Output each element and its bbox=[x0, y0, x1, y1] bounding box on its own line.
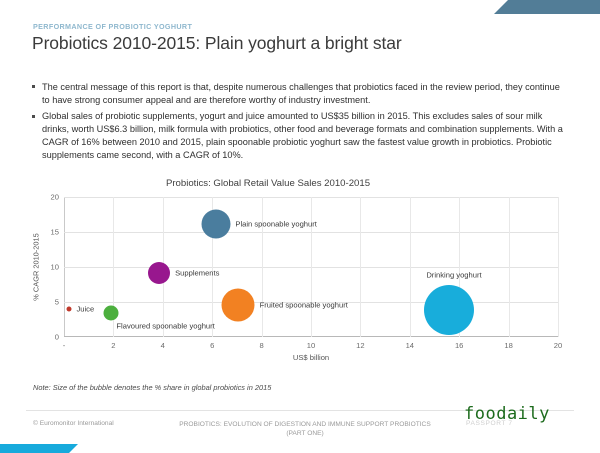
list-item: The central message of this report is th… bbox=[32, 81, 567, 107]
x-axis-tick: 6 bbox=[210, 341, 214, 350]
gridline-vertical bbox=[311, 197, 312, 337]
y-axis-tick: 5 bbox=[55, 298, 59, 307]
list-item: Global sales of probiotic supplements, y… bbox=[32, 110, 567, 162]
chart-bubble-label: Drinking yoghurt bbox=[426, 270, 481, 279]
x-axis-tick: 14 bbox=[406, 341, 414, 350]
chart-plot-area: % CAGR 2010-2015 US$ billion 05101520-24… bbox=[64, 197, 558, 337]
x-axis-tick: 18 bbox=[504, 341, 512, 350]
gridline-vertical bbox=[360, 197, 361, 337]
x-axis-tick: - bbox=[63, 341, 66, 350]
gridline-vertical bbox=[262, 197, 263, 337]
chart-bubble[interactable] bbox=[201, 209, 230, 238]
chart-bubble[interactable] bbox=[66, 307, 71, 312]
gridline-vertical bbox=[558, 197, 559, 337]
chart-bubble[interactable] bbox=[222, 288, 255, 321]
x-axis-tick: 4 bbox=[161, 341, 165, 350]
slide-kicker: PERFORMANCE OF PROBIOTIC YOGHURT bbox=[33, 22, 192, 31]
x-axis-tick: 16 bbox=[455, 341, 463, 350]
footer-accent-tab bbox=[0, 444, 78, 453]
slide: PERFORMANCE OF PROBIOTIC YOGHURT Probiot… bbox=[0, 0, 600, 453]
chart-bubble[interactable] bbox=[148, 262, 170, 284]
bubble-chart: Probiotics: Global Retail Value Sales 20… bbox=[28, 178, 580, 378]
y-axis-tick: 0 bbox=[55, 333, 59, 342]
corner-banner-decoration bbox=[494, 0, 600, 14]
x-axis-tick: 10 bbox=[307, 341, 315, 350]
x-axis-tick: 2 bbox=[111, 341, 115, 350]
footer-copyright: © Euromonitor International bbox=[33, 420, 114, 427]
bullet-list: The central message of this report is th… bbox=[32, 81, 567, 166]
bullet-marker-icon bbox=[32, 85, 35, 88]
y-axis-tick: 10 bbox=[51, 263, 59, 272]
chart-title: Probiotics: Global Retail Value Sales 20… bbox=[28, 178, 508, 189]
foodaily-logo: foodaily bbox=[464, 404, 550, 424]
chart-bubble-label: Juice bbox=[76, 305, 94, 314]
bullet-text: Global sales of probiotic supplements, y… bbox=[42, 111, 563, 160]
chart-bubble[interactable] bbox=[424, 285, 474, 335]
chart-bubble-label: Flavoured spoonable yoghurt bbox=[116, 321, 214, 330]
chart-bubble-label: Plain spoonable yoghurt bbox=[235, 219, 316, 228]
bullet-marker-icon bbox=[32, 115, 35, 118]
bullet-text: The central message of this report is th… bbox=[42, 82, 560, 105]
chart-note: Note: Size of the bubble denotes the % s… bbox=[33, 383, 271, 392]
chart-bubble[interactable] bbox=[103, 306, 118, 321]
y-axis-label: % CAGR 2010-2015 bbox=[32, 233, 41, 300]
x-axis-tick: 12 bbox=[356, 341, 364, 350]
x-axis-label: US$ billion bbox=[293, 353, 329, 362]
y-axis-tick: 15 bbox=[51, 228, 59, 237]
gridline-vertical bbox=[509, 197, 510, 337]
chart-bubble-label: Fruited spoonable yoghurt bbox=[260, 300, 348, 309]
chart-bubble-label: Supplements bbox=[175, 269, 219, 278]
page-title: Probiotics 2010-2015: Plain yoghurt a br… bbox=[32, 33, 402, 54]
footer-report-line1: PROBIOTICS: EVOLUTION OF DIGESTION AND I… bbox=[179, 421, 430, 428]
footer-report-name: PROBIOTICS: EVOLUTION OF DIGESTION AND I… bbox=[150, 420, 460, 438]
x-axis-tick: 8 bbox=[259, 341, 263, 350]
gridline-vertical bbox=[410, 197, 411, 337]
y-axis-tick: 20 bbox=[51, 193, 59, 202]
x-axis-tick: 20 bbox=[554, 341, 562, 350]
footer-report-line2: (PART ONE) bbox=[286, 430, 323, 437]
